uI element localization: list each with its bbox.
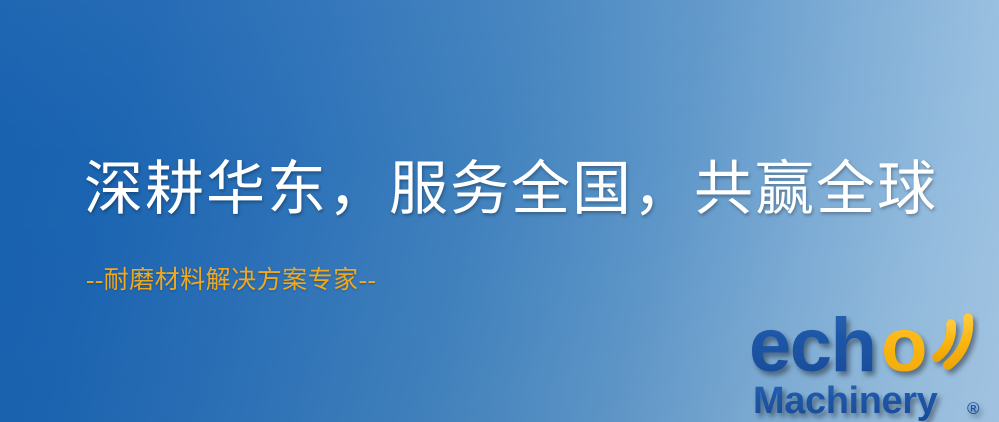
logo-wordmark-ech: ech xyxy=(749,303,875,388)
banner-subtitle: --耐磨材料解决方案专家-- xyxy=(86,265,376,297)
signal-arcs-icon xyxy=(937,318,968,365)
logo-wordmark-o: o xyxy=(881,303,927,388)
echo-machinery-logo: ech o Machinery ® xyxy=(735,295,999,422)
promo-banner: 深耕华东，服务全国，共赢全球 --耐磨材料解决方案专家-- xyxy=(0,0,999,422)
banner-headline: 深耕华东，服务全国，共赢全球 xyxy=(84,152,938,226)
registered-trademark-icon: ® xyxy=(967,399,980,418)
logo-tagline: Machinery xyxy=(753,380,938,422)
